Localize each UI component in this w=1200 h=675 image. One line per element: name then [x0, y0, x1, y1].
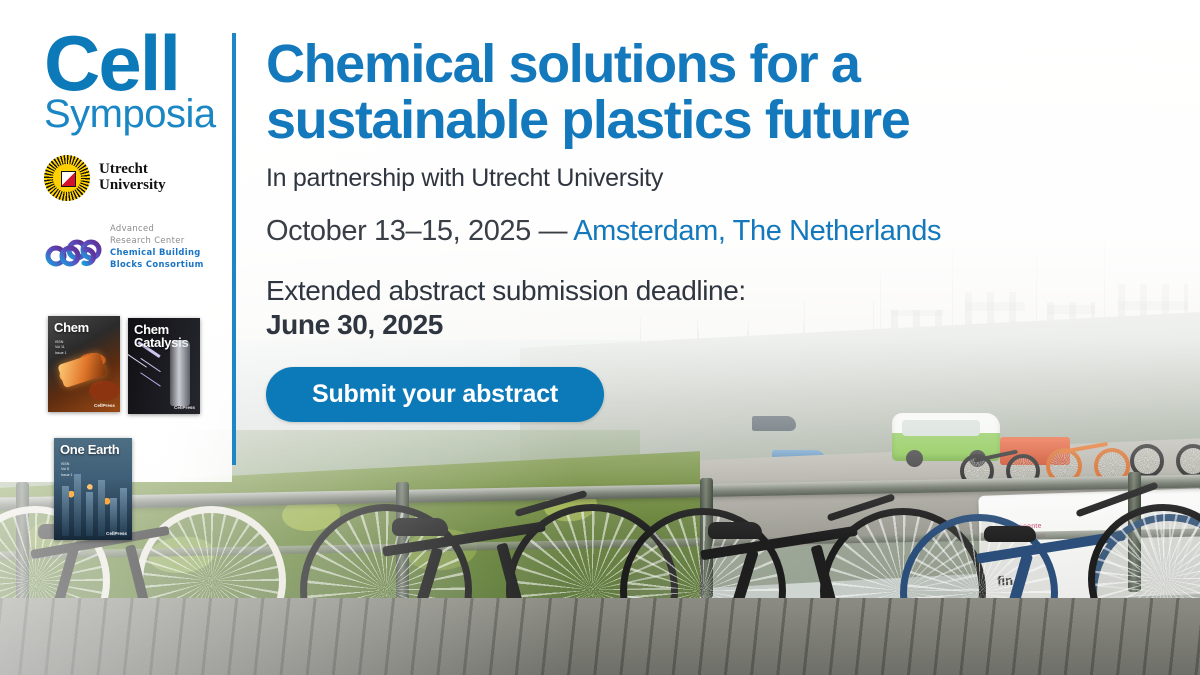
- logo-column: Cell Symposia Utrecht University: [44, 32, 220, 271]
- cover-meta: ISSNVol 8Issue 1: [61, 462, 73, 478]
- journal-cover-one-earth: One Earth ISSNVol 8Issue 1 CellPress: [54, 438, 132, 540]
- event-date: October 13–15, 2025 —: [266, 215, 573, 247]
- arc-cbbc-logo: Advanced Research Center Chemical Buildi…: [44, 223, 220, 271]
- arc-cbbc-mark-icon: [44, 223, 102, 271]
- deadline-label: Extended abstract submission deadline:: [266, 275, 746, 306]
- cover-title: ChemCatalysis: [134, 323, 188, 350]
- banner-content: Cell Symposia Utrecht University: [0, 0, 1200, 675]
- vertical-divider: [232, 33, 236, 465]
- cover-meta: ISSNVol 11Issue 1: [55, 340, 67, 356]
- journal-cover-chem: Chem ISSNVol 11Issue 1 CellPress: [48, 316, 120, 412]
- event-headline: Chemical solutions for a sustainable pla…: [266, 36, 986, 148]
- utrecht-university-label: Utrecht University: [99, 162, 166, 194]
- cover-title: Chem: [54, 321, 89, 334]
- journal-cover-chem-catalysis: ChemCatalysis CellPress: [128, 318, 200, 414]
- cover-imprint: CellPress: [174, 405, 195, 410]
- deadline-block: Extended abstract submission deadline: J…: [266, 274, 1166, 342]
- symposia-wordmark: Symposia: [44, 98, 220, 131]
- utrecht-university-logo: Utrecht University: [44, 155, 220, 201]
- cover-imprint: CellPress: [106, 531, 127, 536]
- partnership-line: In partnership with Utrecht University: [266, 164, 1166, 193]
- arc-cbbc-label: Advanced Research Center Chemical Buildi…: [110, 223, 204, 271]
- refinery-illustration: [54, 474, 132, 536]
- event-location: Amsterdam, The Netherlands: [573, 215, 941, 247]
- event-promo-banner: Gemeente Amsterdam fin: [0, 0, 1200, 675]
- submit-abstract-button[interactable]: Submit your abstract: [266, 367, 604, 422]
- utrecht-sun-icon: [44, 155, 90, 201]
- deadline-date: June 30, 2025: [266, 308, 1166, 342]
- cell-symposia-logo: Cell Symposia: [44, 32, 220, 131]
- date-location-line: October 13–15, 2025 — Amsterdam, The Net…: [266, 215, 1166, 248]
- cell-wordmark: Cell: [44, 32, 220, 96]
- main-text-block: Chemical solutions for a sustainable pla…: [266, 36, 1166, 422]
- cover-title: One Earth: [60, 443, 119, 456]
- cover-imprint: CellPress: [94, 403, 115, 408]
